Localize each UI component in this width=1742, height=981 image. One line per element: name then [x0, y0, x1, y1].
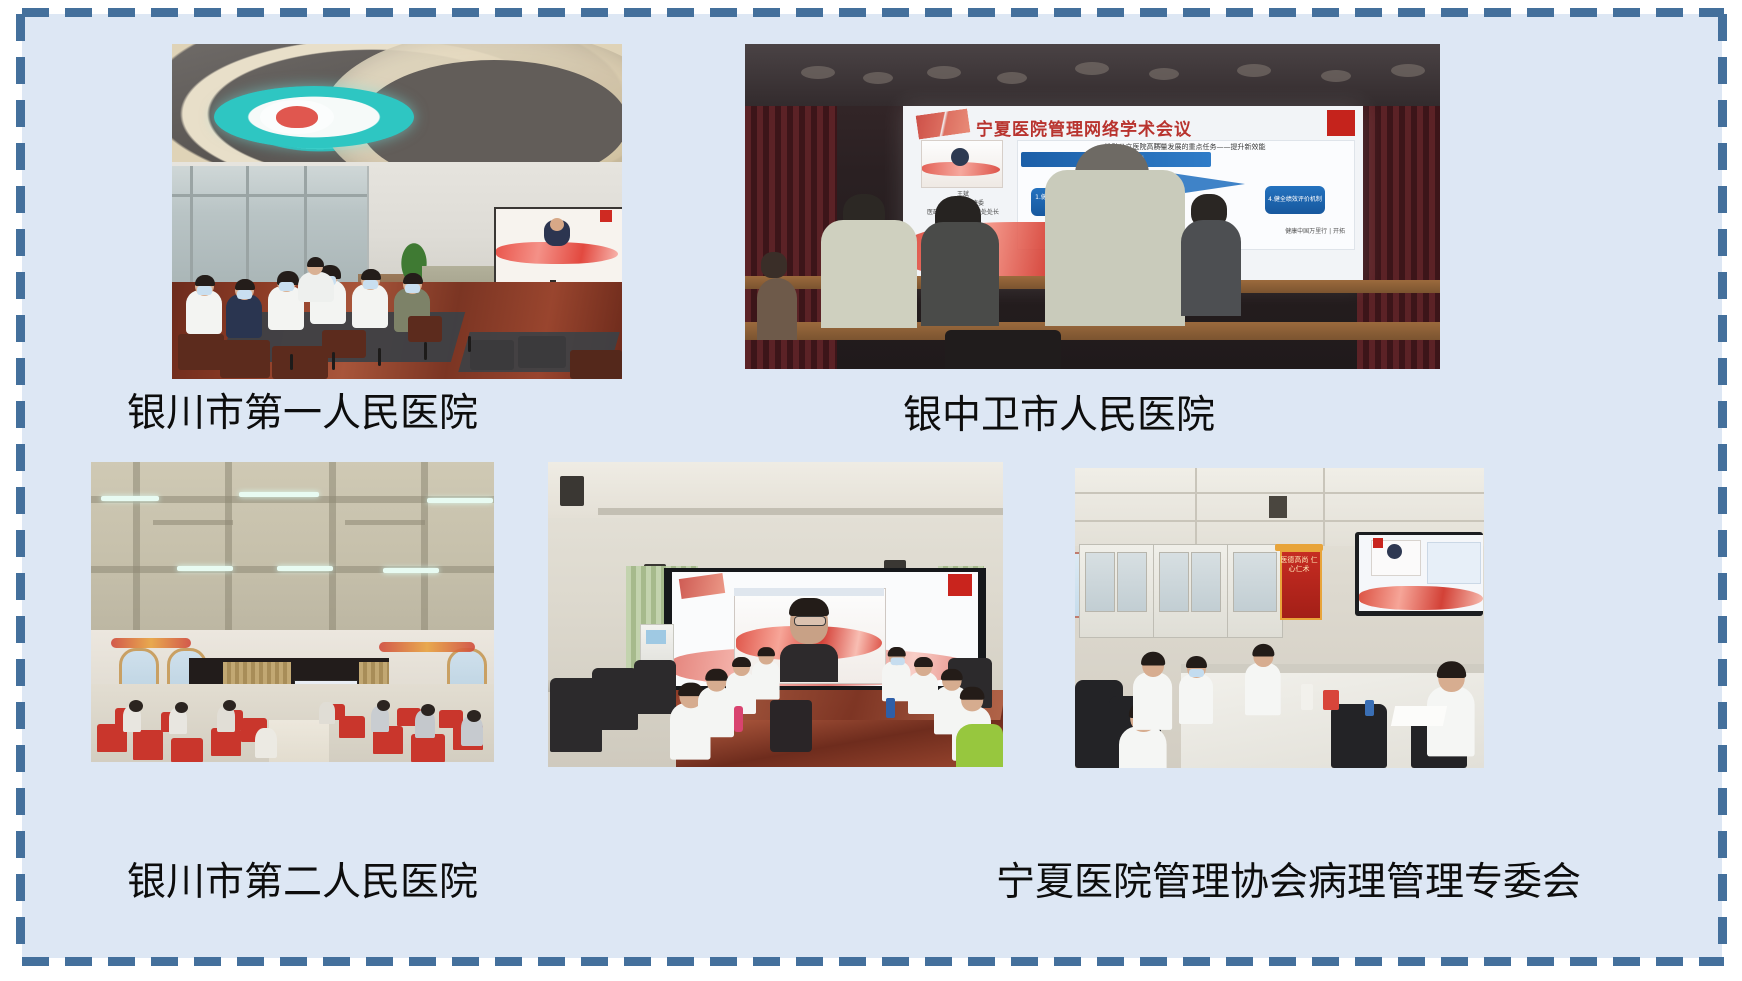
festive-decoration	[379, 642, 475, 652]
photo-yinchuan-first-peoples-hospital	[172, 44, 622, 379]
ceiling-light	[1237, 64, 1271, 77]
slide-seal-stamp	[1327, 110, 1355, 136]
beverage-can	[886, 698, 895, 718]
dashed-border-top	[22, 8, 1724, 17]
paper-notebook	[1391, 706, 1447, 726]
ceiling-beam	[225, 462, 232, 637]
monitor-slide-panel	[1427, 542, 1481, 584]
slide-page-number: 10	[1153, 142, 1162, 150]
fluorescent-tube	[101, 496, 159, 501]
ceiling	[91, 462, 494, 637]
monitor-seal-stamp	[1373, 538, 1383, 548]
transom	[172, 194, 367, 197]
audience-chair	[211, 728, 241, 756]
video-speaker-glasses-icon	[794, 616, 826, 626]
slide-speaker-video-head	[951, 148, 969, 166]
chair-back	[945, 330, 1061, 369]
ac-vent	[345, 520, 425, 525]
caption-photo-1: 银川市第一人民医院	[127, 394, 478, 433]
cabinet-glass-door	[1085, 552, 1115, 612]
monitor-speaker-head	[1387, 544, 1402, 559]
audience-chair	[133, 730, 163, 760]
audience-chair	[171, 738, 203, 762]
dashed-border-right	[1718, 14, 1727, 960]
ceiling-beam	[133, 462, 140, 637]
office-chair	[592, 668, 638, 730]
cabinet-glass-door	[1117, 552, 1147, 612]
ceiling-light	[997, 72, 1027, 84]
fluorescent-tube	[277, 566, 333, 571]
ceiling-grid-line	[1195, 468, 1197, 546]
audience-head	[129, 700, 143, 712]
ceiling-grid-line	[1323, 468, 1325, 546]
audience-chair	[439, 710, 463, 728]
caption-photo-3: 银川市第二人民医院	[127, 863, 478, 902]
display-stamp-graphic	[600, 210, 612, 222]
ceiling-grid-line	[1075, 520, 1484, 522]
fluorescent-tube	[177, 566, 233, 571]
ceiling-light	[801, 66, 835, 79]
festive-decoration	[111, 638, 191, 648]
caption-photo-5: 宁夏医院管理协会病理管理专委会	[996, 863, 1581, 902]
fluorescent-tube	[239, 492, 319, 497]
cabinet-glass-door	[1191, 552, 1221, 612]
display-speaker-head	[550, 218, 564, 231]
slide-title: 宁夏医院管理网络学术会议	[959, 114, 1209, 140]
mug	[1323, 690, 1339, 710]
audience-chair	[411, 734, 445, 762]
audience-head	[421, 704, 435, 716]
audience-head	[223, 700, 236, 711]
audience-member	[255, 728, 277, 758]
caption-photo-2: 银中卫市人民医院	[903, 396, 1215, 435]
center-aisle	[269, 720, 329, 762]
thermos	[1301, 684, 1313, 710]
slide-subtitle: 推动公立医院高质量发展的重点任务——提升新效能	[1021, 142, 1349, 152]
attendee-green-jacket	[956, 724, 1003, 767]
chair-row	[172, 306, 622, 379]
slide-seal-stamp	[948, 574, 972, 596]
cabinet-glass-door	[1159, 552, 1189, 612]
audience-member	[319, 702, 335, 724]
hospital-emblem-mark	[276, 106, 318, 128]
office-chair	[1331, 704, 1387, 768]
audience-head	[377, 700, 390, 711]
audience-head	[175, 702, 188, 713]
ceiling-light	[1075, 62, 1109, 75]
slide-canvas: 银川市第一人民医院 宁夏医院管理网络学术会议 王斌 国家卫生健康委 医政医管局医…	[0, 0, 1742, 981]
ceiling-grid-line	[1075, 492, 1484, 494]
monitor-ribbon-graphic	[1359, 586, 1483, 610]
photo-meeting-room-video-conference	[548, 462, 1003, 767]
ceiling-light	[1391, 64, 1425, 77]
dashed-border-bottom	[22, 957, 1724, 966]
office-chair	[634, 660, 676, 714]
fluorescent-tube	[427, 498, 493, 503]
banner-text: 医德高尚 仁心仁术	[1280, 556, 1318, 574]
video-speaker-body	[780, 644, 838, 682]
photo-yinchuan-second-peoples-hospital	[91, 462, 494, 762]
wall-speaker	[1269, 496, 1287, 518]
ceiling-light	[1149, 68, 1179, 80]
video-speaker-hair	[789, 598, 829, 616]
dashed-border-left	[16, 14, 25, 960]
ceiling-conduit	[598, 508, 1003, 515]
ceiling-light	[927, 66, 961, 79]
cabinet-glass-door	[1233, 552, 1277, 612]
beverage-can	[1365, 700, 1374, 716]
wall-speaker	[560, 476, 584, 506]
slide-pill: 4.健全绩效评价机制	[1265, 186, 1325, 214]
water-bottle	[734, 706, 743, 732]
water-cooler-tank	[646, 630, 666, 644]
ac-vent	[153, 520, 233, 525]
audience-head	[467, 710, 481, 722]
ceiling-beam	[329, 462, 336, 637]
video-window-titlebar	[734, 588, 884, 596]
fluorescent-tube	[383, 568, 439, 573]
ceiling-light	[1321, 70, 1351, 82]
photo-zhongwei-peoples-hospital: 宁夏医院管理网络学术会议 王斌 国家卫生健康委 医政医管局医疗资源处处长 推动公…	[745, 44, 1440, 369]
ceiling-beam	[421, 462, 428, 637]
ceiling-light	[863, 72, 893, 84]
table-equipment	[770, 700, 812, 752]
photo-ningxia-pathology-committee: 医德高尚 仁心仁术	[1075, 468, 1484, 768]
